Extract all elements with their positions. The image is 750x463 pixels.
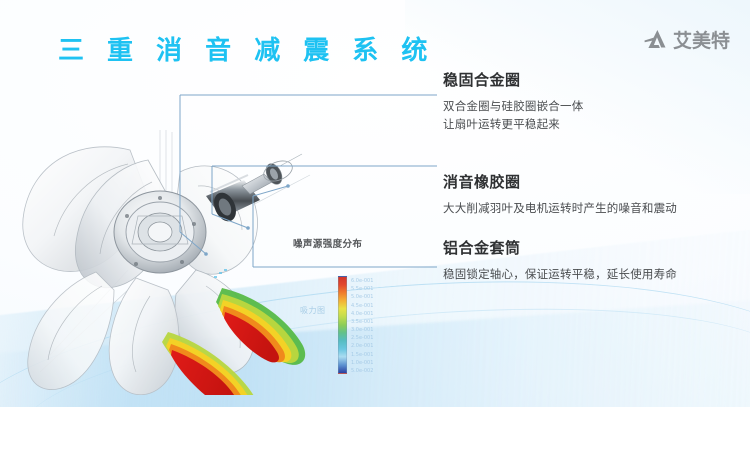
noise-colorbar-tick: 1.5e-001 [351, 353, 373, 358]
noise-colorbar-tick: 5.0e-001 [351, 295, 373, 300]
callout-alloy-ring-line-1: 双合金圈与硅胶圈嵌合一体 [443, 98, 583, 116]
callout-aluminum-sleeve-line-1: 稳固锁定轴心，保证运转平稳，延长使用寿命 [443, 266, 677, 284]
noise-colorbar: 6.0e-0015.5e-0015.0e-0014.5e-0014.0e-001… [338, 276, 390, 374]
suction-map-label: 吸力图 [300, 305, 326, 316]
noise-colorbar-tick: 5.5e-001 [351, 287, 373, 292]
noise-colorbar-tick: 4.0e-001 [351, 312, 373, 317]
noise-colorbar-tick: 2.0e-001 [351, 344, 373, 349]
noise-colorbar-tick: 6.0e-001 [351, 279, 373, 284]
page-title: 三 重 消 音 减 震 系 统 [58, 30, 434, 67]
callout-aluminum-sleeve-title: 铝合金套筒 [443, 238, 677, 258]
brand-name: 艾美特 [673, 32, 730, 51]
product-feature-slide: 三 重 消 音 减 震 系 统 艾美特 [0, 0, 750, 463]
noise-colorbar-tick: 1.0e-001 [351, 361, 373, 366]
callout-alloy-ring-title: 稳固合金圈 [443, 70, 583, 90]
callout-alloy-ring: 稳固合金圈 双合金圈与硅胶圈嵌合一体 让扇叶运转更平稳起来 [443, 70, 583, 134]
callout-rubber-ring-line-1: 大大削减羽叶及电机运转时产生的噪音和震动 [443, 200, 677, 218]
fan-blade-artwork [10, 120, 340, 395]
callout-rubber-ring: 消音橡胶圈 大大削减羽叶及电机运转时产生的噪音和震动 [443, 172, 677, 218]
brand-logo: 艾美特 [644, 28, 730, 54]
background-bottom-band [0, 407, 750, 463]
noise-colorbar-tick: 2.5e-001 [351, 336, 373, 341]
noise-colorbar-tick: 4.5e-001 [351, 304, 373, 309]
noise-distribution-label: 噪声源强度分布 [293, 236, 362, 250]
airmate-a-mark-icon [644, 28, 670, 54]
noise-colorbar-tick: 3.0e-001 [351, 328, 373, 333]
callout-alloy-ring-line-2: 让扇叶运转更平稳起来 [443, 116, 583, 134]
noise-colorbar-gradient [338, 276, 347, 374]
noise-colorbar-ticks: 6.0e-0015.5e-0015.0e-0014.5e-0014.0e-001… [351, 275, 391, 375]
noise-colorbar-tick: 3.5e-001 [351, 320, 373, 325]
callout-rubber-ring-title: 消音橡胶圈 [443, 172, 677, 192]
noise-colorbar-tick: 5.0e-002 [351, 369, 373, 374]
callout-aluminum-sleeve: 铝合金套筒 稳固锁定轴心，保证运转平稳，延长使用寿命 [443, 238, 677, 284]
